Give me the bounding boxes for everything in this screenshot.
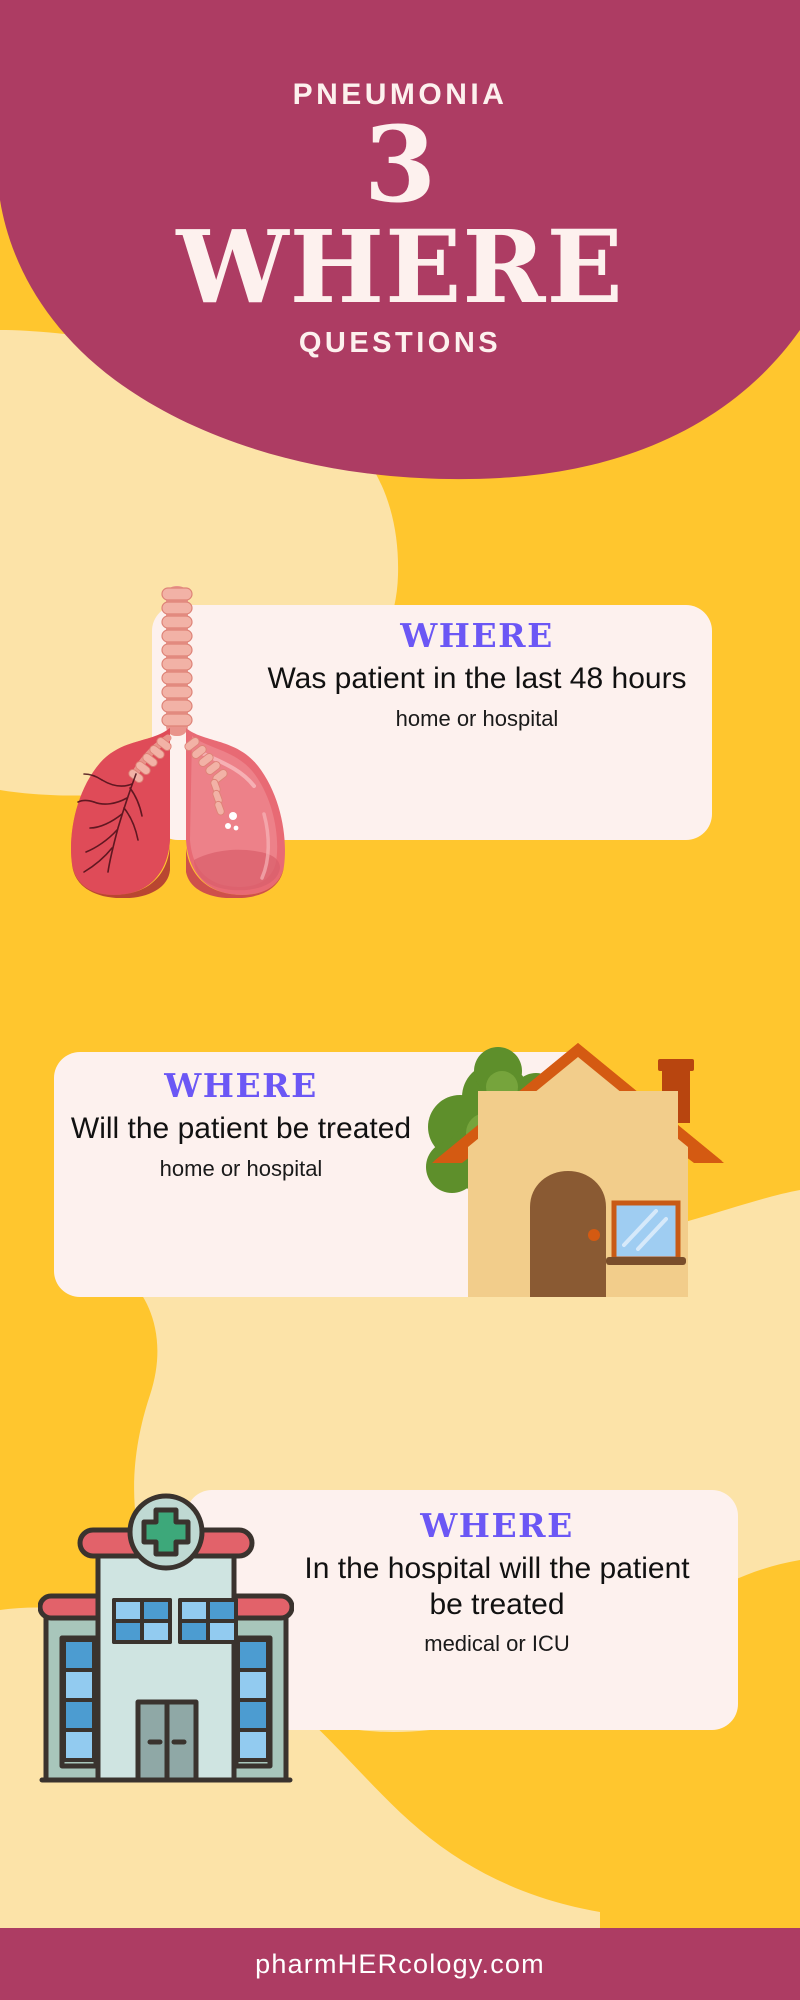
card-3-question: In the hospital will the patient be trea… bbox=[288, 1551, 706, 1622]
hospital-illustration bbox=[38, 1490, 294, 1790]
card-1-label: WHERE bbox=[262, 618, 692, 654]
card-1-answer: home or hospital bbox=[262, 706, 692, 732]
footer-bar: pharmHERcology.com bbox=[0, 1928, 800, 2000]
card-2-text: WHERE Will the patient be treated home o… bbox=[66, 1068, 416, 1182]
card-1-text: WHERE Was patient in the last 48 hours h… bbox=[262, 618, 692, 732]
footer-site-label: pharmHERcology.com bbox=[255, 1949, 545, 1980]
card-3-label: WHERE bbox=[288, 1508, 706, 1544]
card-2-label: WHERE bbox=[66, 1068, 416, 1104]
card-2-question: Will the patient be treated bbox=[66, 1111, 416, 1146]
header-word: WHERE bbox=[0, 217, 800, 317]
house-illustration bbox=[418, 1035, 738, 1310]
header-subkicker: QUESTIONS bbox=[0, 327, 800, 360]
card-3-text: WHERE In the hospital will the patient b… bbox=[288, 1508, 706, 1657]
card-1-question: Was patient in the last 48 hours bbox=[262, 661, 692, 696]
card-3-answer: medical or ICU bbox=[288, 1631, 706, 1657]
infographic-canvas: PNEUMONIA 3 WHERE QUESTIONS bbox=[0, 0, 800, 2000]
header-banner: PNEUMONIA 3 WHERE QUESTIONS bbox=[0, 0, 800, 480]
lungs-illustration bbox=[52, 578, 302, 898]
card-2-answer: home or hospital bbox=[66, 1156, 416, 1182]
header-text-group: PNEUMONIA 3 WHERE QUESTIONS bbox=[0, 0, 800, 360]
header-number: 3 bbox=[0, 116, 800, 215]
